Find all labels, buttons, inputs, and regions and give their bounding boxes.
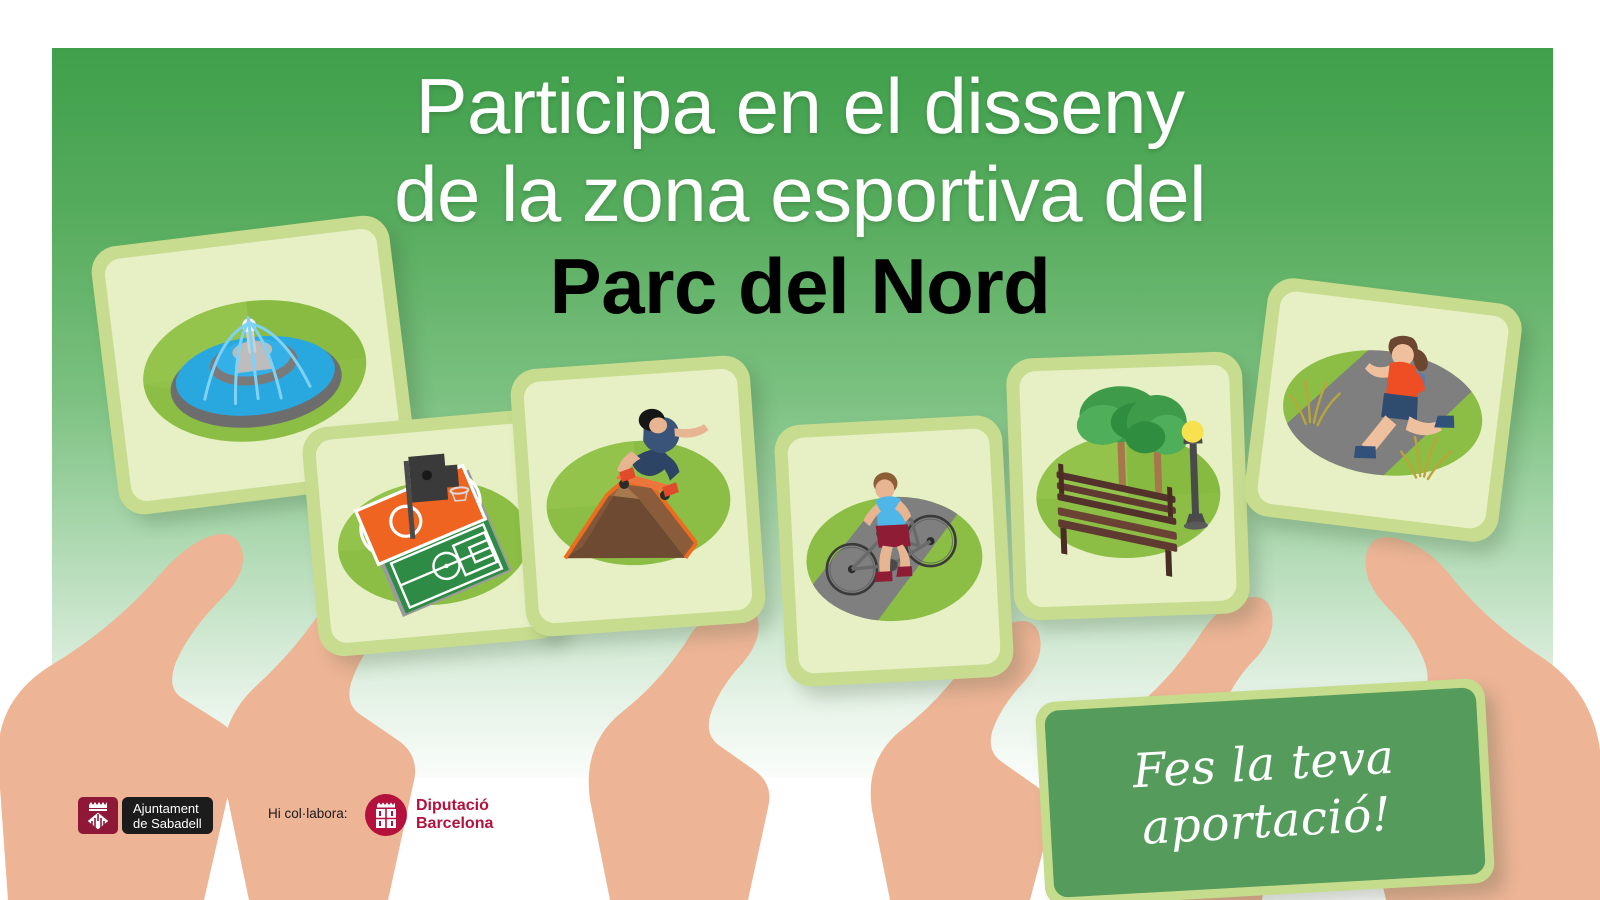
skateboarder-icon: [523, 368, 753, 624]
card-skatepark[interactable]: [509, 354, 767, 638]
ajuntament-line-1: Ajuntament: [133, 801, 202, 816]
card-bikepath-inner: [787, 428, 1001, 674]
card-running[interactable]: [1241, 275, 1524, 544]
card-skatepark-inner: [523, 368, 753, 624]
park-bench-icon: [1019, 364, 1237, 607]
poster-canvas: Participa en el disseny de la zona espor…: [0, 0, 1600, 900]
footer-logos: Ajuntament de Sabadell Hi col·labora:: [0, 786, 1600, 856]
diputacio-line-1: Diputació: [416, 797, 493, 816]
runner-icon: [1256, 290, 1510, 530]
logo-ajuntament-sabadell[interactable]: Ajuntament de Sabadell: [78, 797, 213, 834]
logo-diputacio-barcelona[interactable]: Diputació Barcelona: [365, 794, 493, 836]
sabadell-shield-icon: [78, 797, 118, 834]
card-bench-trees-inner: [1019, 364, 1237, 607]
ajuntament-name-box: Ajuntament de Sabadell: [122, 797, 213, 834]
collaborates-label: Hi col·labora:: [268, 806, 348, 821]
cyclist-icon: [787, 428, 1001, 674]
card-bench-trees[interactable]: [1006, 351, 1251, 621]
ajuntament-line-2: de Sabadell: [133, 816, 202, 831]
diputacio-line-2: Barcelona: [416, 815, 493, 834]
card-running-inner: [1256, 290, 1510, 530]
diputacio-shield-icon: [365, 794, 407, 836]
card-bikepath[interactable]: [773, 414, 1014, 688]
diputacio-name: Diputació Barcelona: [416, 797, 493, 834]
